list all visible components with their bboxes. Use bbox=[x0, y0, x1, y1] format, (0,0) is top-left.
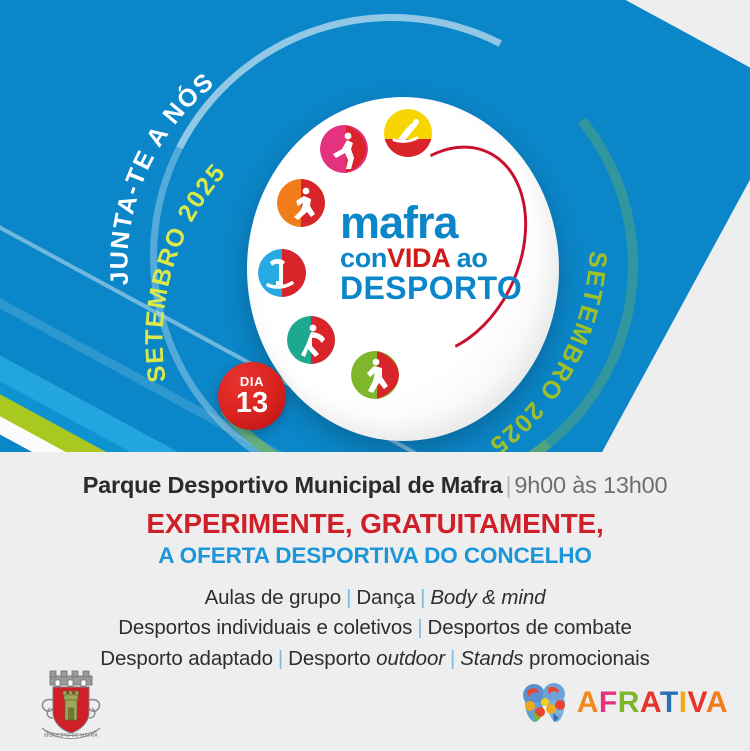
venue-separator: | bbox=[503, 472, 515, 498]
mafrativa-letter: A bbox=[577, 686, 599, 719]
activity-item: Dança bbox=[356, 586, 415, 609]
day-badge-number: 13 bbox=[218, 390, 286, 416]
wordmark-convida: conVIDA ao bbox=[340, 246, 552, 272]
venue-time: 9h00 às 13h00 bbox=[514, 472, 667, 498]
activity-separator: | bbox=[415, 586, 430, 609]
activity-item: Desportos de combate bbox=[428, 616, 632, 639]
sport-icon-gymnastics bbox=[384, 109, 432, 157]
mafrativa-mark-icon bbox=[521, 682, 575, 724]
mafrativa-logo: AFRATIVA bbox=[521, 680, 728, 726]
wordmark-desporto: DESPORTO bbox=[340, 273, 552, 304]
sport-icon-climbing bbox=[320, 125, 368, 173]
sport-icon-running bbox=[277, 179, 325, 227]
activity-separator: | bbox=[445, 647, 460, 670]
mafrativa-letter: R bbox=[618, 686, 640, 719]
venue-line: Parque Desportivo Municipal de Mafra|9h0… bbox=[0, 472, 750, 499]
activity-line: Aulas de grupo|Dança|Body & mind bbox=[0, 583, 750, 613]
activity-item-tail: promocionais bbox=[523, 647, 649, 670]
day-badge: DIA 13 bbox=[218, 362, 286, 430]
activity-item: Desporto adaptado bbox=[100, 647, 273, 670]
wordmark-con: con bbox=[340, 243, 387, 273]
mafrativa-letter: F bbox=[599, 686, 618, 719]
mafrativa-letter: I bbox=[679, 686, 688, 719]
poster-root: JUNTA-TE A NÓS SETEMBRO 2025 SETEMBRO 20… bbox=[0, 0, 750, 751]
activity-separator: | bbox=[341, 586, 356, 609]
activity-item-tail: outdoor bbox=[376, 647, 445, 670]
brand-badge: mafra conVIDA ao DESPORTO bbox=[247, 97, 559, 441]
activities-list: Aulas de grupo|Dança|Body & mind Desport… bbox=[0, 583, 750, 674]
activity-item: Desporto bbox=[288, 647, 376, 670]
activity-item: Stands bbox=[460, 647, 523, 670]
arc-month-left-text: SETEMBRO 2025 bbox=[140, 158, 231, 384]
wordmark-mafra: mafra bbox=[340, 201, 552, 244]
mafrativa-letter: A bbox=[706, 686, 728, 719]
headline: EXPERIMENTE, GRATUITAMENTE, bbox=[0, 508, 750, 540]
activity-line: Desportos individuais e coletivos|Despor… bbox=[0, 613, 750, 643]
wordmark-ao: ao bbox=[449, 243, 487, 273]
activity-item: Body & mind bbox=[430, 586, 545, 609]
banner-graphic: JUNTA-TE A NÓS SETEMBRO 2025 SETEMBRO 20… bbox=[0, 0, 750, 452]
footer-logos: MUNICÍPIO DE MAFRA bbox=[0, 668, 750, 751]
sport-icon-swimming bbox=[258, 249, 306, 297]
mafrativa-wordmark: AFRATIVA bbox=[577, 686, 728, 720]
activity-item: Aulas de grupo bbox=[205, 586, 342, 609]
mafrativa-letter: A bbox=[640, 686, 660, 719]
venue-name: Parque Desportivo Municipal de Mafra bbox=[83, 472, 503, 498]
mafrativa-letter: V bbox=[688, 686, 706, 719]
crest-caption: MUNICÍPIO DE MAFRA bbox=[44, 732, 98, 739]
activity-separator: | bbox=[273, 647, 288, 670]
activity-separator: | bbox=[412, 616, 427, 639]
sport-icon-football bbox=[351, 351, 399, 399]
municipio-de-mafra-crest: MUNICÍPIO DE MAFRA bbox=[28, 668, 114, 746]
mafrativa-letter: T bbox=[660, 686, 679, 719]
activity-item: Desportos individuais e coletivos bbox=[118, 616, 412, 639]
brand-wordmark: mafra conVIDA ao DESPORTO bbox=[340, 201, 552, 304]
subheadline: A OFERTA DESPORTIVA DO CONCELHO bbox=[0, 543, 750, 569]
sport-icon-dance bbox=[287, 316, 335, 364]
wordmark-vida: VIDA bbox=[387, 243, 449, 273]
